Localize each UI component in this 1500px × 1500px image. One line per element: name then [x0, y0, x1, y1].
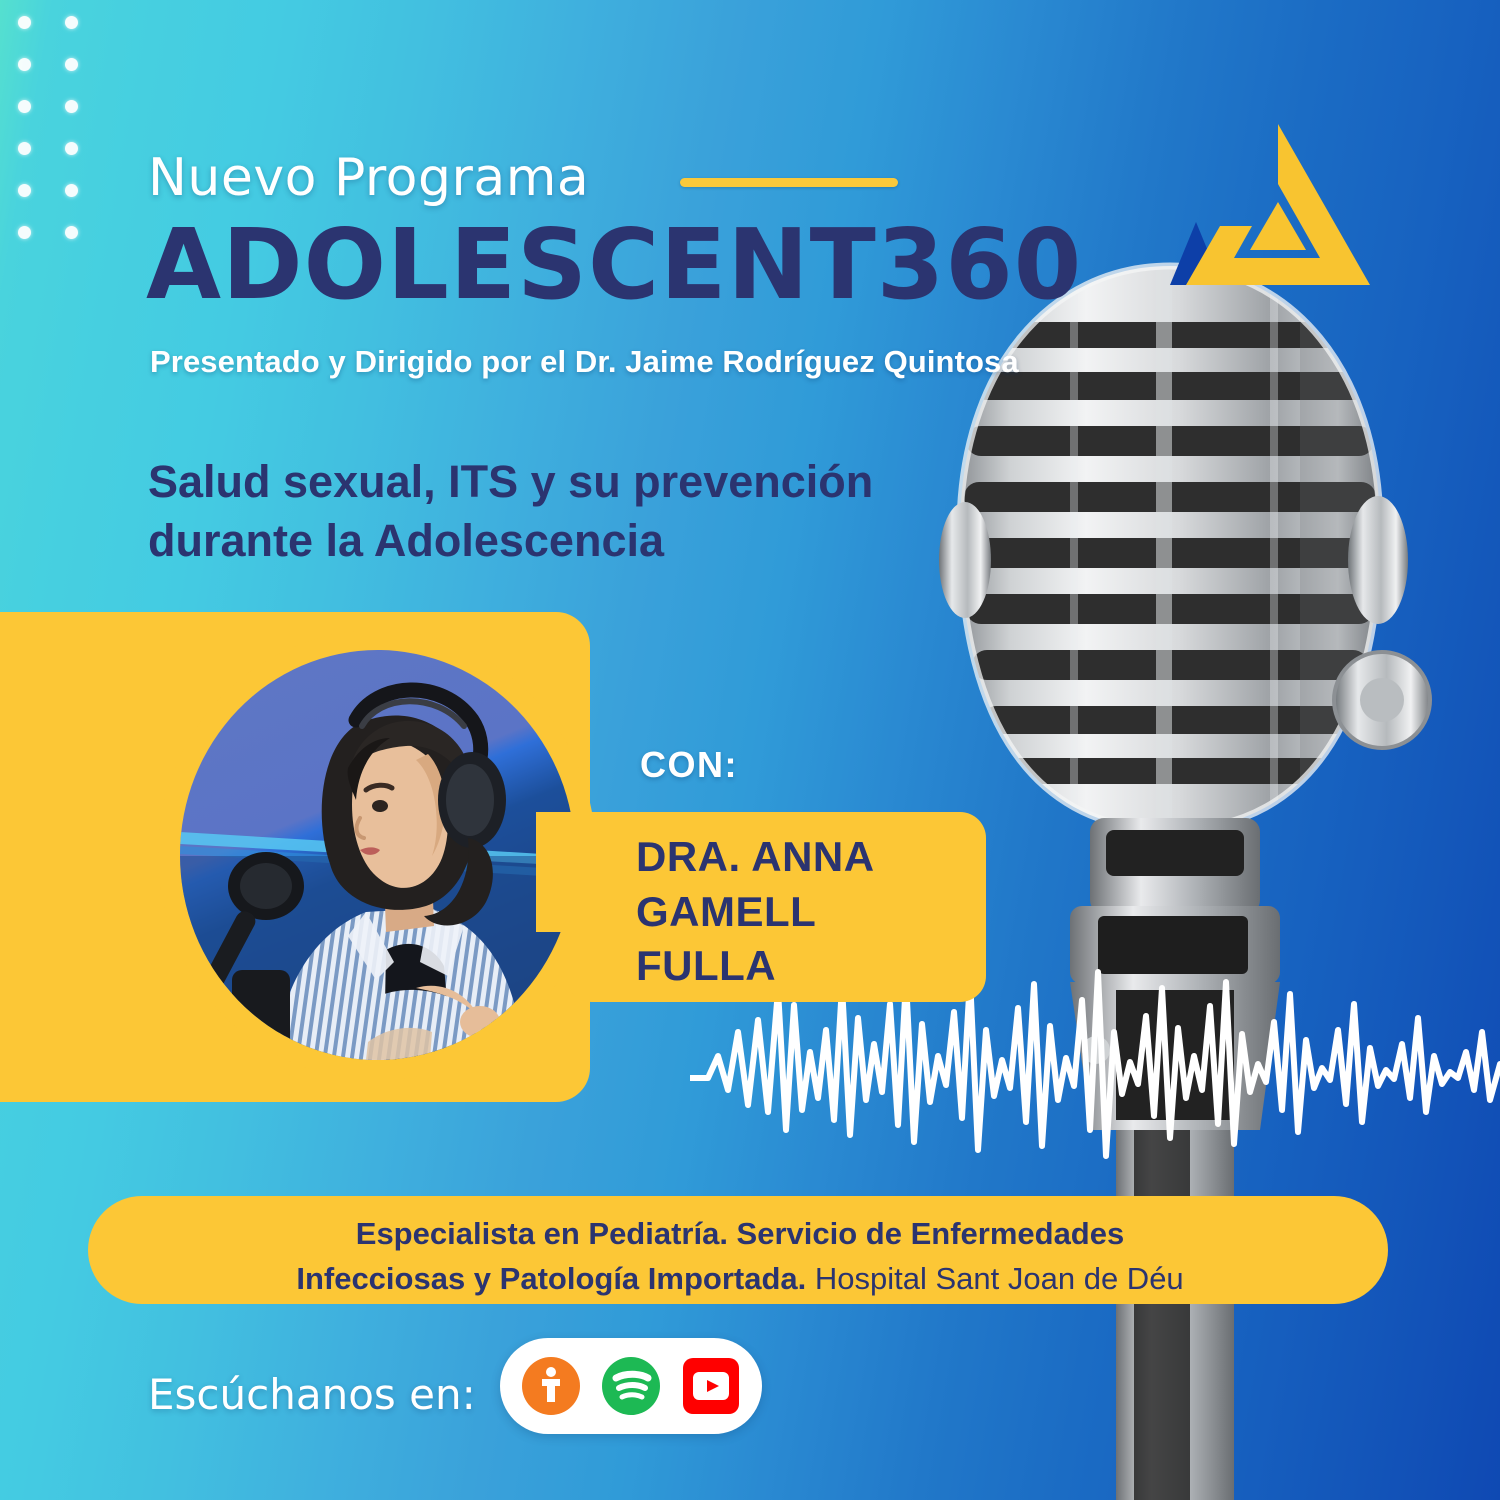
kicker-rule [680, 178, 898, 187]
with-label: CON: [640, 744, 738, 786]
grid-dot [65, 226, 78, 239]
ivoox-icon[interactable] [520, 1355, 582, 1417]
grid-dot [18, 58, 31, 71]
guest-name-line-1: DRA. ANNA [636, 830, 1016, 885]
grid-dot [18, 184, 31, 197]
avatar [180, 650, 575, 1060]
grid-dot [65, 58, 78, 71]
spotify-icon[interactable] [600, 1355, 662, 1417]
byline-text: Presentado y Dirigido por el Dr. Jaime R… [150, 344, 1019, 380]
youtube-icon[interactable] [680, 1355, 742, 1417]
adolescent360-triangle-logo [1160, 110, 1410, 330]
grid-dot [18, 100, 31, 113]
credentials-hospital: Hospital Sant Joan de Déu [806, 1261, 1183, 1296]
grid-dot [18, 16, 31, 29]
podcast-promo-poster: Nuevo Programa ADOLESCENT360 Presentado … [0, 0, 1500, 1500]
subject-text: Salud sexual, ITS y su prevención durant… [148, 452, 968, 571]
grid-dot [18, 142, 31, 155]
grid-dot [65, 100, 78, 113]
credentials-text: Especialista en Pediatría. Servicio de E… [110, 1212, 1370, 1302]
credentials-line-1: Especialista en Pediatría. Servicio de E… [356, 1216, 1124, 1251]
guest-name-line-3: FULLA [636, 939, 1016, 994]
listen-label: Escúchanos en: [148, 1370, 476, 1419]
grid-dot [65, 184, 78, 197]
guest-name: DRA. ANNA GAMELL FULLA [636, 830, 1016, 994]
grid-dot [65, 16, 78, 29]
dot-grid-pattern [8, 8, 98, 238]
social-links-pill [500, 1338, 762, 1434]
kicker-text: Nuevo Programa [148, 148, 589, 208]
credentials-line-2: Infecciosas y Patología Importada. [296, 1261, 806, 1296]
grid-dot [65, 142, 78, 155]
page-title: ADOLESCENT360 [146, 216, 1082, 313]
subject-line-2: durante la Adolescencia [148, 511, 968, 570]
grid-dot [18, 226, 31, 239]
guest-name-line-2: GAMELL [636, 885, 1016, 940]
subject-line-1: Salud sexual, ITS y su prevención [148, 452, 968, 511]
